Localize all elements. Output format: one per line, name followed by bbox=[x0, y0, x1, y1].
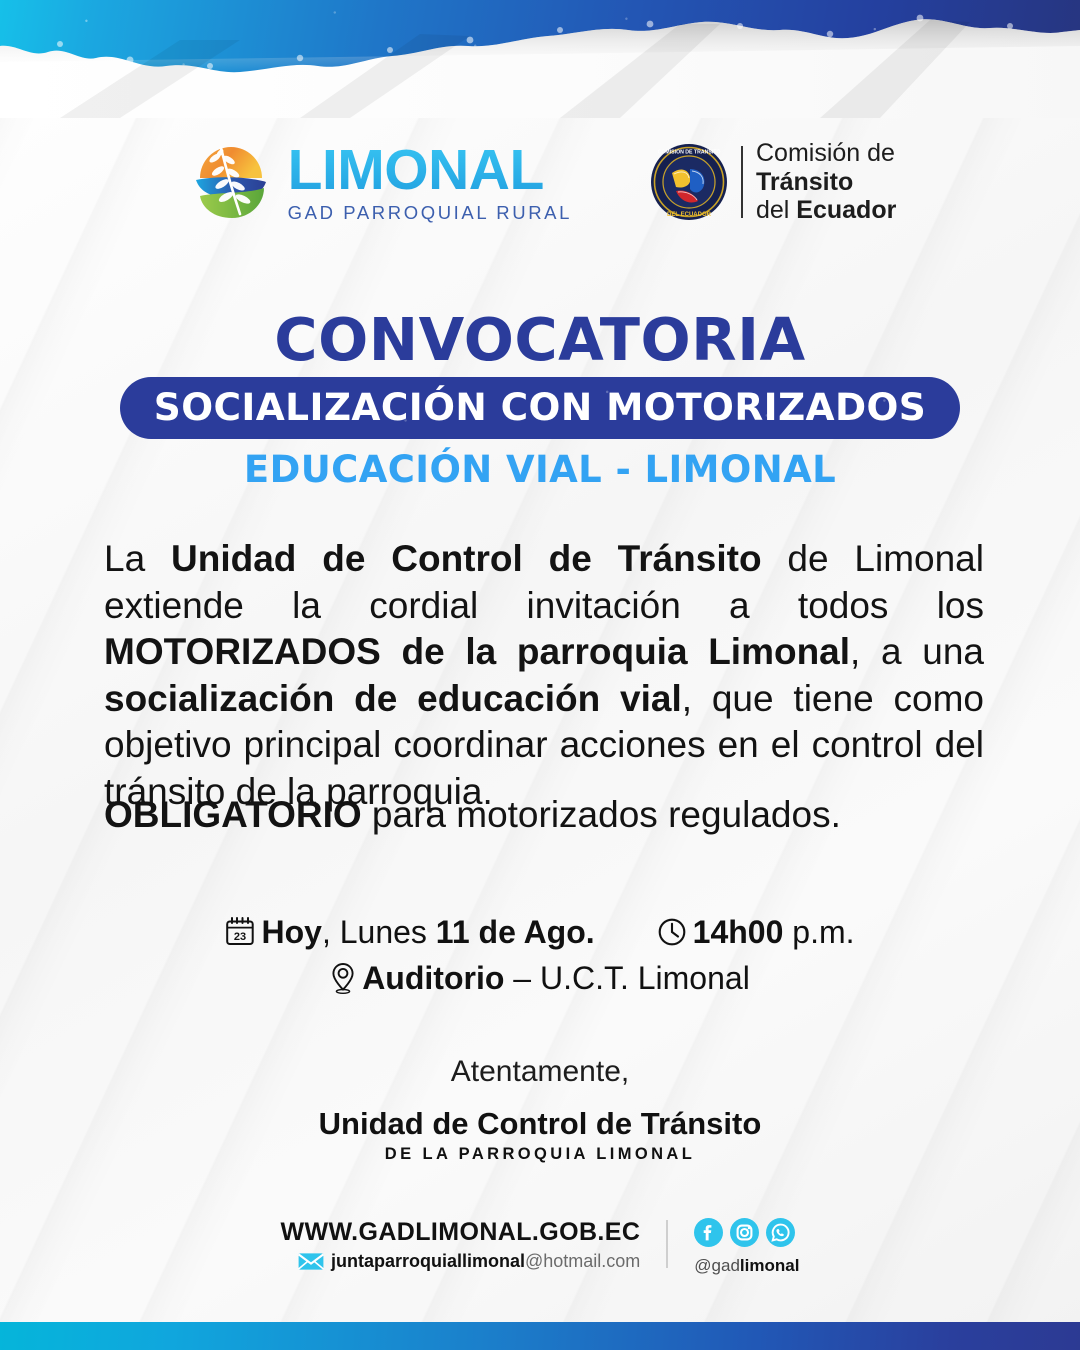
paragraph-2-text: OBLIGATORIO para motorizados regulados. bbox=[104, 792, 984, 839]
cte-line-2: Tránsito bbox=[756, 168, 896, 197]
event-venue-detail: – U.C.T. Limonal bbox=[504, 960, 749, 996]
logo-limonal: LIMONAL GAD PARROQUIAL RURAL bbox=[184, 138, 572, 226]
signature-parish: DE LA PARROQUIA LIMONAL bbox=[0, 1145, 1080, 1164]
cte-line-1: Comisión de bbox=[756, 139, 896, 168]
instagram-icon[interactable] bbox=[730, 1218, 759, 1252]
limonal-sun-field-wheat-logo bbox=[184, 138, 278, 226]
logo-comision-transito-ecuador: COMISION DE TRANSITO DEL ECUADOR Comisió… bbox=[650, 139, 896, 225]
cte-line-3-bold: Ecuador bbox=[796, 196, 896, 224]
footer-handle[interactable]: @gadlimonal bbox=[694, 1256, 799, 1276]
whatsapp-icon[interactable] bbox=[766, 1218, 795, 1252]
headline-pill-label: SOCIALIZACIÓN CON MOTORIZADOS bbox=[154, 385, 926, 429]
event-venue: Auditorio bbox=[362, 960, 504, 996]
headline-block: CONVOCATORIA SOCIALIZACIÓN CON MOTORIZAD… bbox=[0, 310, 1080, 491]
event-time-meridiem: p.m. bbox=[783, 914, 854, 950]
event-time-value: 14h00 bbox=[693, 914, 784, 950]
bottom-blue-band bbox=[0, 1322, 1080, 1350]
paragraph-1-text: La Unidad de Control de Tránsito de Limo… bbox=[104, 536, 984, 816]
footer-handle-bold: limonal bbox=[740, 1256, 800, 1275]
calendar-icon: 23 bbox=[225, 916, 255, 948]
cte-seal-icon: COMISION DE TRANSITO DEL ECUADOR bbox=[650, 143, 728, 221]
signature-closing: Atentamente, bbox=[0, 1055, 1080, 1089]
signature-block: Atentamente, Unidad de Control de Tránsi… bbox=[0, 1055, 1080, 1164]
footer-email[interactable]: juntaparroquiallimonal@hotmail.com bbox=[281, 1251, 641, 1272]
event-place: Auditorio – U.C.T. Limonal bbox=[330, 958, 750, 998]
envelope-icon bbox=[298, 1252, 324, 1271]
limonal-tagline: GAD PARROQUIAL RURAL bbox=[288, 204, 572, 223]
cte-line-3-thin: del bbox=[756, 196, 796, 224]
body-paragraph-2: OBLIGATORIO para motorizados regulados. bbox=[104, 792, 984, 839]
svg-text:COMISION DE TRANSITO: COMISION DE TRANSITO bbox=[658, 150, 721, 156]
location-pin-icon bbox=[330, 961, 356, 995]
facebook-icon[interactable] bbox=[694, 1218, 723, 1252]
footer-handle-prefix: @gad bbox=[694, 1256, 740, 1275]
event-details: 23 Hoy, Lunes 11 de Ago. 14h00 p.m. bbox=[0, 912, 1080, 998]
clock-icon bbox=[657, 916, 687, 948]
logo-divider bbox=[741, 146, 743, 218]
event-date: 23 Hoy, Lunes 11 de Ago. bbox=[225, 912, 594, 952]
event-date-value: 11 de Ago. bbox=[436, 914, 595, 950]
limonal-wordmark: LIMONAL bbox=[288, 142, 572, 199]
event-date-separator: , bbox=[322, 914, 340, 950]
svg-text:DEL ECUADOR: DEL ECUADOR bbox=[667, 212, 712, 218]
page-title: CONVOCATORIA bbox=[0, 310, 1080, 369]
calendar-day-number: 23 bbox=[234, 931, 246, 943]
headline-pill: SOCIALIZACIÓN CON MOTORIZADOS bbox=[120, 377, 960, 439]
event-today-label: Hoy bbox=[261, 914, 321, 950]
event-weekday: Lunes bbox=[340, 914, 436, 950]
footer-divider bbox=[666, 1220, 668, 1268]
footer-website[interactable]: WWW.GADLIMONAL.GOB.EC bbox=[281, 1218, 641, 1247]
footer-email-domain: @hotmail.com bbox=[525, 1251, 640, 1272]
footer-email-user: juntaparroquiallimonal bbox=[331, 1251, 525, 1272]
torn-paper-edge bbox=[0, 0, 1080, 118]
headline-subtitle: EDUCACIÓN VIAL - LIMONAL bbox=[0, 448, 1080, 491]
logo-row: LIMONAL GAD PARROQUIAL RURAL COMISION DE… bbox=[0, 138, 1080, 226]
event-time: 14h00 p.m. bbox=[657, 912, 855, 952]
footer: WWW.GADLIMONAL.GOB.EC juntaparroquiallim… bbox=[0, 1218, 1080, 1276]
signature-unit: Unidad de Control de Tránsito bbox=[0, 1106, 1080, 1142]
body-paragraph-1: La Unidad de Control de Tránsito de Limo… bbox=[104, 536, 984, 816]
